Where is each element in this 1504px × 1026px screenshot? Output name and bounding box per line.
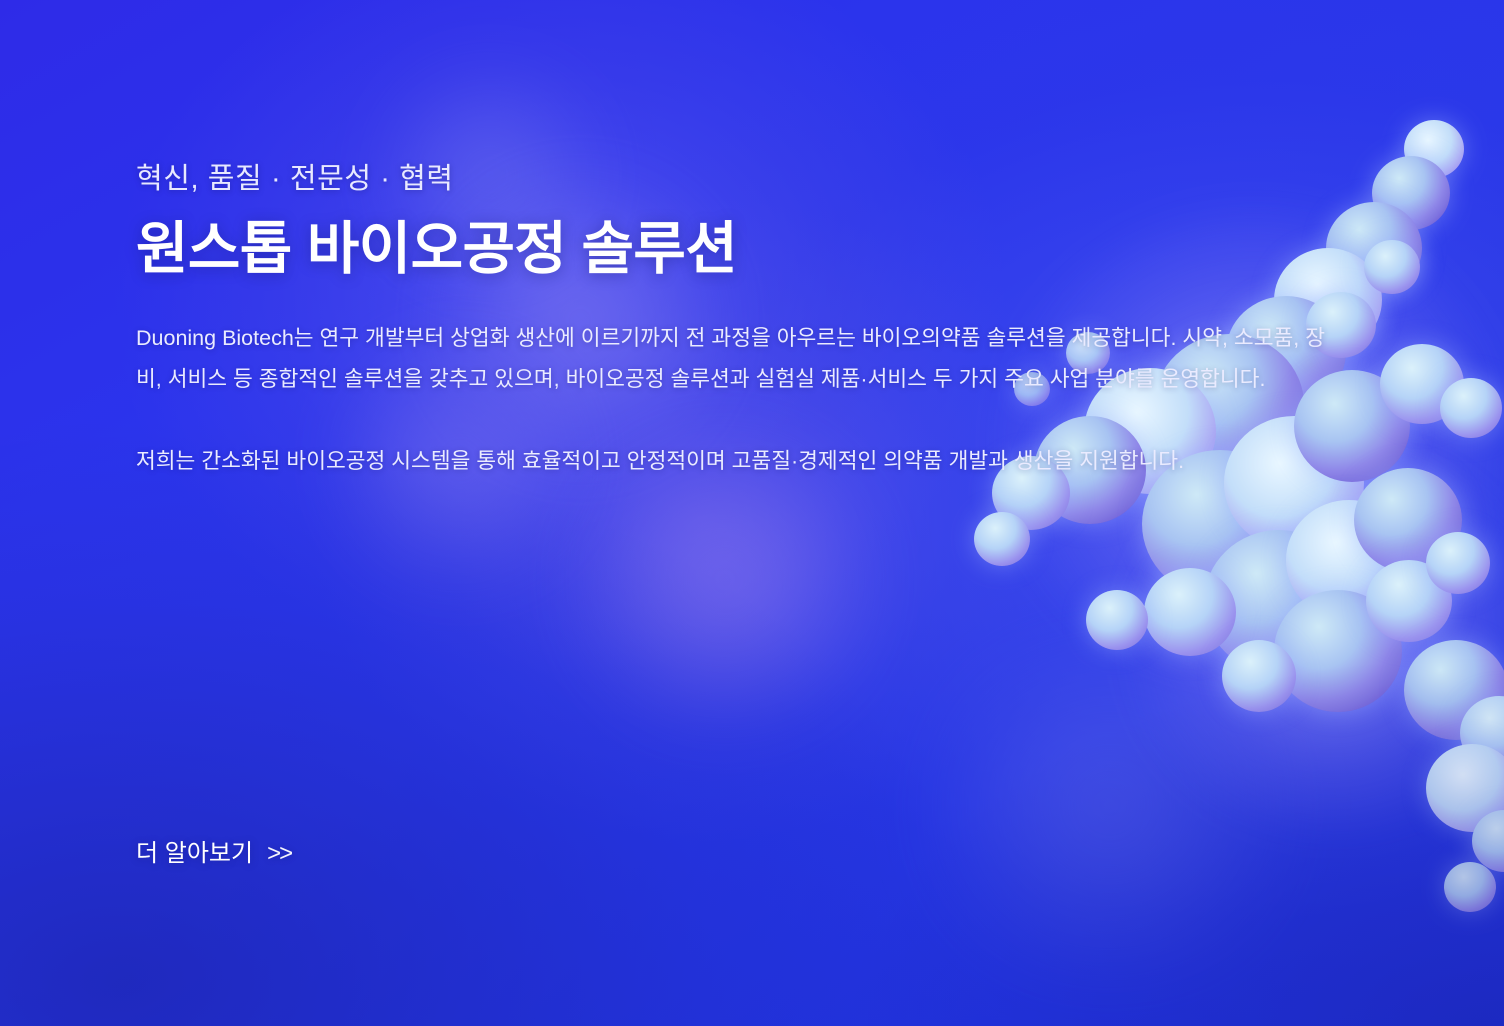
hero-headline: 원스톱 바이오공정 솔루션	[136, 217, 1376, 283]
learn-more-link[interactable]: 더 알아보기 >>	[136, 842, 291, 866]
learn-more-label: 더 알아보기	[136, 842, 253, 866]
hero-body-copy: Duoning Biotech는 연구 개발부터 상업화 생산에 이르기까지 전…	[136, 318, 1341, 482]
hero-paragraph-1: Duoning Biotech는 연구 개발부터 상업화 생산에 이르기까지 전…	[136, 318, 1341, 400]
hero-paragraph-2: 저희는 간소화된 바이오공정 시스템을 통해 효율적이고 안정적이며 고품질·경…	[136, 441, 1341, 482]
hero-banner: 혁신, 품질 · 전문성 · 협력 원스톱 바이오공정 솔루션 Duoning …	[0, 0, 1504, 1026]
double-chevron-right-icon: >>	[267, 842, 291, 866]
hero-eyebrow: 혁신, 품질 · 전문성 · 협력	[136, 162, 1376, 197]
hero-content: 혁신, 품질 · 전문성 · 협력 원스톱 바이오공정 솔루션 Duoning …	[136, 162, 1376, 482]
bokeh-shape-5	[900, 640, 1320, 970]
